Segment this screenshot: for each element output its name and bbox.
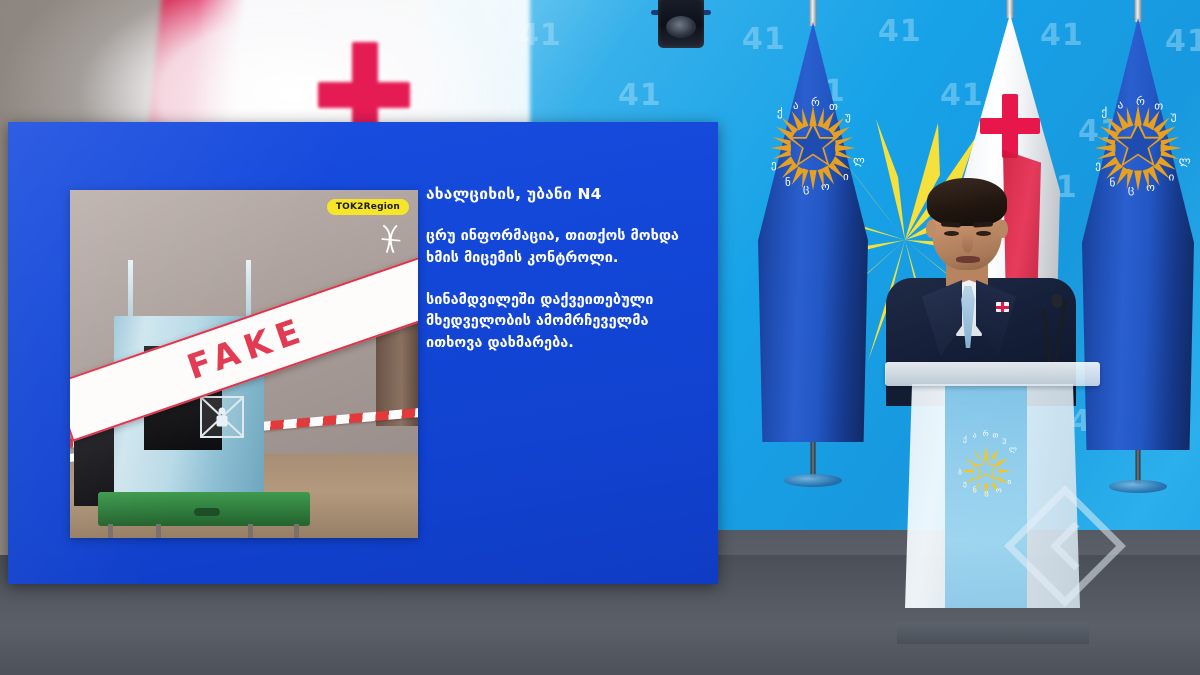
- broadcaster-watermark-icon: [1003, 484, 1127, 608]
- slide-text-block: ახალციხის, უბანი N4 ცრუ ინფორმაცია, თითქ…: [426, 184, 688, 375]
- broadcast-frame: 41 41 41 41 41 41 41 41 41 41 41 41 41 4…: [0, 0, 1200, 675]
- party-emblem-sun-icon: [1091, 101, 1185, 195]
- svg-text:რ: რ: [983, 430, 989, 438]
- backdrop-watermark-41: 41: [878, 14, 922, 49]
- svg-text:ა: ა: [973, 430, 977, 439]
- slide-paragraph-1: ცრუ ინფორმაცია, თითქოს მოხდა ხმის მიცემი…: [426, 226, 688, 270]
- backdrop-watermark-41: 41: [618, 78, 662, 113]
- evidence-photo: TOK2Region FAKE: [70, 190, 418, 538]
- svg-text:თ: თ: [993, 430, 999, 439]
- georgia-cross-icon: [980, 118, 1040, 134]
- flag-lapel-pin-icon: [996, 302, 1009, 312]
- svg-text:ლ: ლ: [1009, 444, 1017, 453]
- photo-channel-logo-icon: [378, 222, 404, 256]
- no-photography-sign-icon: [200, 396, 244, 438]
- svg-text:ო: ო: [996, 485, 1002, 494]
- booth-cart: [98, 492, 310, 526]
- microphone-icon: [1052, 294, 1062, 308]
- presentation-screen: TOK2Region FAKE ახალციხის, უბანი N4 ცრუ …: [8, 122, 718, 584]
- party-emblem-sun-icon: [767, 102, 859, 194]
- svg-text:ქ: ქ: [963, 434, 967, 443]
- slide-paragraph-2: სინამდვილეში დაქვეითებული მხედველობის ამ…: [426, 290, 688, 355]
- svg-text:ბ: ბ: [958, 467, 962, 476]
- photo-source-badge: TOK2Region: [327, 199, 409, 215]
- slide-title: ახალციხის, უბანი N4: [426, 184, 688, 204]
- svg-text:ც: ც: [984, 488, 988, 497]
- svg-text:ე: ე: [963, 479, 967, 488]
- party-flag-left: ქარ თუ ლი ოცნ ე: [758, 22, 868, 442]
- svg-text:ნ: ნ: [973, 485, 977, 494]
- svg-text:უ: უ: [1002, 435, 1006, 444]
- stage-spotlight-icon: [658, 0, 704, 48]
